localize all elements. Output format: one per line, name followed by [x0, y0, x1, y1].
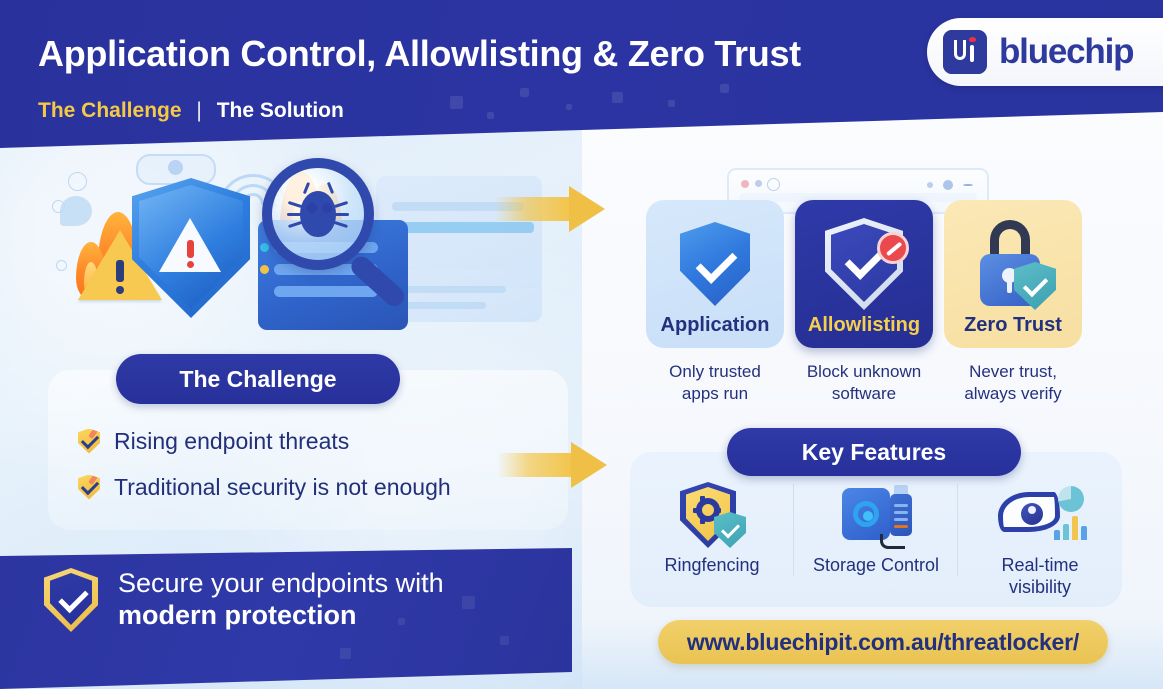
challenge-pill: The Challenge: [116, 354, 400, 404]
feature-real-time-visibility[interactable]: Real-time visibility: [958, 478, 1122, 603]
logo-u-glyph: [954, 40, 966, 60]
feature-storage-control[interactable]: Storage Control: [794, 478, 958, 603]
subtitle: The Challenge | The Solution: [38, 99, 344, 123]
arrow-head: [569, 186, 605, 232]
check-shield-icon: [78, 475, 100, 500]
browser-dot-outline: [767, 178, 780, 191]
external-drive: [842, 488, 890, 540]
shield-gear-icon: [664, 478, 760, 550]
card-zero-trust[interactable]: Zero Trust Never trust, always verify: [944, 200, 1082, 405]
decor-blob: [60, 196, 92, 226]
list-item: Rising endpoint threats: [78, 418, 451, 464]
arrow-to-solution-cards: [495, 186, 607, 232]
bullet-text: Traditional security is not enough: [114, 474, 451, 501]
usb-line-1: [894, 504, 908, 507]
card-application[interactable]: Application Only trusted apps run: [646, 200, 784, 405]
storage-drive-usb-icon: [828, 478, 924, 550]
feature-label: Ringfencing: [664, 554, 759, 576]
challenge-bullet-list: Rising endpoint threats Traditional secu…: [78, 418, 451, 510]
warning-exclamation: [116, 260, 124, 282]
usb-line-4: [894, 525, 908, 528]
magnifier-handle: [347, 253, 408, 311]
subtitle-separator: |: [196, 99, 201, 122]
card-title: Application: [661, 314, 770, 337]
magnifier-lens: [262, 158, 374, 270]
decor-circle-3: [56, 260, 67, 271]
shield-warning-triangle: [159, 218, 221, 272]
logo-i-dot: [969, 37, 976, 42]
bluechip-logo[interactable]: bluechip: [927, 18, 1163, 86]
eye-icon: [998, 492, 1060, 532]
bug-body: [300, 191, 336, 237]
card-subtitle: Only trusted apps run: [646, 361, 784, 405]
bug-leg-r2: [335, 213, 349, 216]
feature-label: Storage Control: [813, 554, 939, 576]
bar-4: [1081, 526, 1087, 540]
logo-wordmark: bluechip: [999, 32, 1133, 72]
card-title: Allowlisting: [808, 314, 920, 337]
arrow-tail: [495, 197, 571, 221]
eye-glint: [1028, 506, 1036, 514]
feature-ringfencing[interactable]: Ringfencing: [630, 478, 794, 603]
infographic-canvas: Application Control, Allowlisting & Zero…: [0, 0, 1163, 689]
bar-chart-icon: [1054, 514, 1088, 540]
shield-warning-exclamation: [187, 240, 194, 258]
browser-share-icon: [963, 184, 973, 186]
bug-leg-l1: [288, 201, 302, 208]
pie-chart-icon: [1058, 486, 1084, 512]
arrow-to-key-features: [497, 442, 609, 488]
bug-leg-l3: [288, 221, 302, 228]
bug-antenna-left: [303, 182, 310, 194]
browser-dot-red: [741, 180, 749, 188]
banner-line-1: Secure your endpoints with: [118, 567, 444, 599]
bluechip-mark-icon: [943, 30, 987, 74]
check-shield-icon: [78, 429, 100, 454]
check-mark: [721, 519, 740, 538]
solution-cards: Application Only trusted apps run Allowl…: [646, 200, 1082, 405]
bug-leg-l2: [287, 213, 301, 216]
website-url-pill[interactable]: www.bluechipit.com.au/threatlocker/: [658, 620, 1108, 664]
usb-line-3: [894, 518, 908, 521]
bug-antenna-right: [327, 182, 334, 194]
card-allowlisting[interactable]: Allowlisting Block unknown software: [795, 200, 933, 405]
drive-ring: [853, 501, 879, 527]
bar-2: [1063, 524, 1069, 540]
shield-check-blocked-icon: [825, 218, 903, 310]
eye-analytics-icon: [992, 478, 1088, 550]
bar-1: [1054, 530, 1060, 540]
key-features-list: Ringfencing Storage Control: [630, 478, 1122, 603]
arrow-head: [571, 442, 607, 488]
usb-stick: [890, 494, 912, 536]
browser-control-dot-2: [943, 180, 953, 190]
card-zero-trust-box: Zero Trust: [944, 200, 1082, 348]
bug-leg-r3: [334, 221, 348, 228]
usb-line-2: [894, 511, 908, 514]
banner-text: Secure your endpoints with modern protec…: [118, 567, 444, 631]
check-mark: [696, 242, 738, 284]
toggle-switch-decor: [136, 154, 216, 185]
bug-eye-right: [322, 203, 332, 213]
bullet-text: Rising endpoint threats: [114, 428, 349, 455]
browser-control-dot-1: [927, 182, 933, 188]
verified-badge-icon: [714, 512, 746, 548]
magnifier-bug-icon: [262, 158, 432, 308]
drive-cable: [880, 534, 905, 549]
browser-dot-blue: [755, 180, 762, 187]
page-title: Application Control, Allowlisting & Zero…: [38, 33, 801, 75]
decor-circle-2: [68, 172, 87, 191]
feature-label: Real-time visibility: [1001, 554, 1078, 598]
list-item: Traditional security is not enough: [78, 464, 451, 510]
card-allowlisting-box: Allowlisting: [795, 200, 933, 348]
threat-illustration: [40, 150, 540, 345]
no-entry-icon: [877, 232, 909, 264]
subtitle-solution: The Solution: [217, 99, 344, 122]
logo-i-stem: [970, 45, 974, 62]
bug-icon: [292, 183, 344, 241]
card-title: Zero Trust: [964, 314, 1062, 337]
padlock-verified-icon: [978, 220, 1042, 306]
usb-connector: [894, 485, 908, 494]
banner-line-2: modern protection: [118, 599, 444, 631]
card-subtitle: Block unknown software: [795, 361, 933, 405]
check-mark: [1023, 272, 1048, 297]
subtitle-challenge: The Challenge: [38, 99, 182, 122]
card-application-box: Application: [646, 200, 784, 348]
bug-eye-left: [307, 203, 317, 213]
arrow-tail: [497, 453, 573, 477]
bar-3: [1072, 516, 1078, 540]
key-features-pill: Key Features: [727, 428, 1021, 476]
card-subtitle: Never trust, always verify: [944, 361, 1082, 405]
bug-leg-r1: [334, 201, 348, 208]
shield-check-icon: [680, 222, 750, 306]
